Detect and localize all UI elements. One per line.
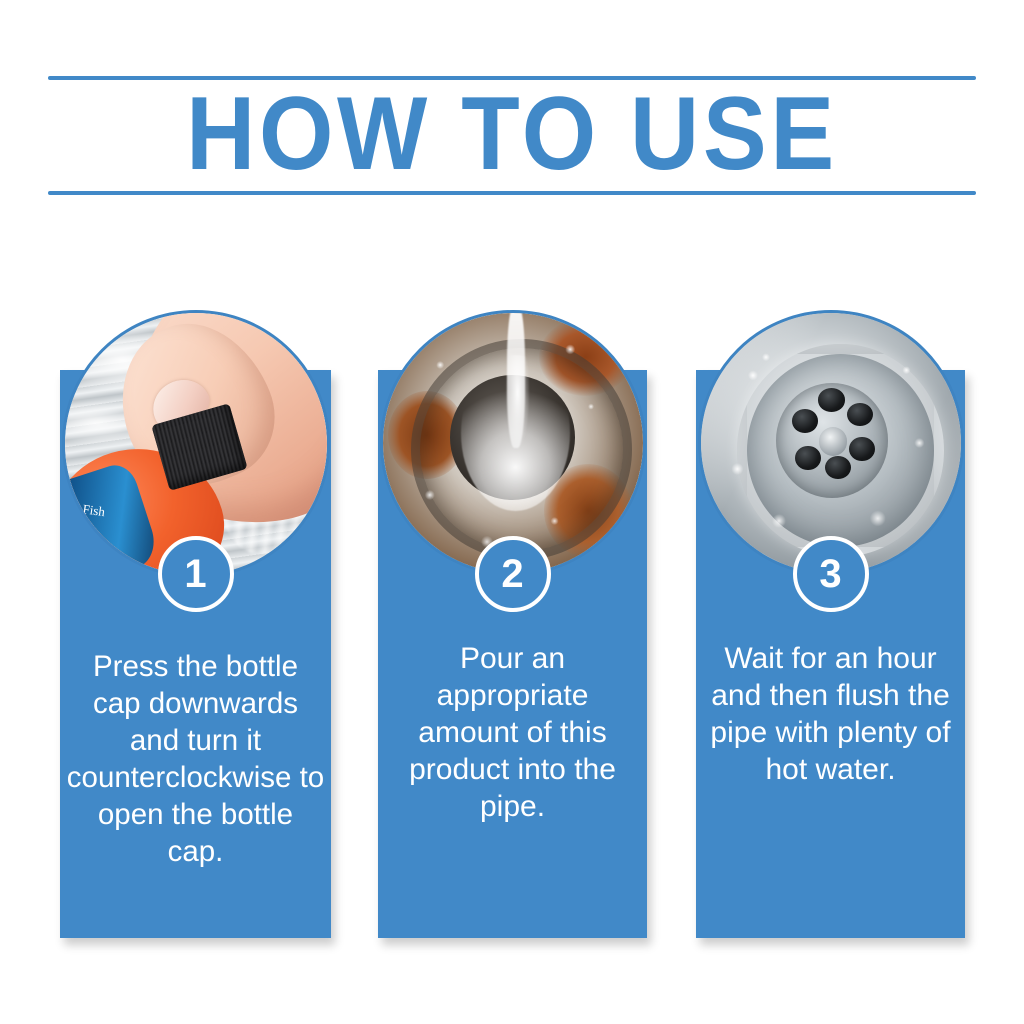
header-rule-bottom — [48, 191, 976, 195]
step-card-3: 3 Wait for an hour and then flush the pi… — [696, 296, 965, 956]
step-number-badge-3: 3 — [793, 536, 869, 612]
page-title: HOW TO USE — [85, 78, 939, 190]
rusty-drain-illustration — [383, 313, 643, 573]
water-droplets-icon — [701, 313, 961, 573]
bottle-label-text: Jue Fish — [65, 499, 106, 521]
step-caption-2: Pour an appropriate amount of this produ… — [378, 640, 647, 825]
clean-strainer-illustration — [701, 313, 961, 573]
step-number-badge-2: 2 — [475, 536, 551, 612]
step-caption-3: Wait for an hour and then flush the pipe… — [696, 640, 965, 788]
step-card-1: Jue Fish 1 Press the bottle cap downward… — [60, 296, 331, 956]
step-number-badge-1: 1 — [158, 536, 234, 612]
steps-row: Jue Fish 1 Press the bottle cap downward… — [0, 296, 1024, 976]
page-header: HOW TO USE — [48, 76, 976, 198]
step-card-2: 2 Pour an appropriate amount of this pro… — [378, 296, 647, 956]
water-droplets-icon — [383, 313, 643, 573]
step-caption-1: Press the bottle cap downwards and turn … — [60, 648, 331, 870]
